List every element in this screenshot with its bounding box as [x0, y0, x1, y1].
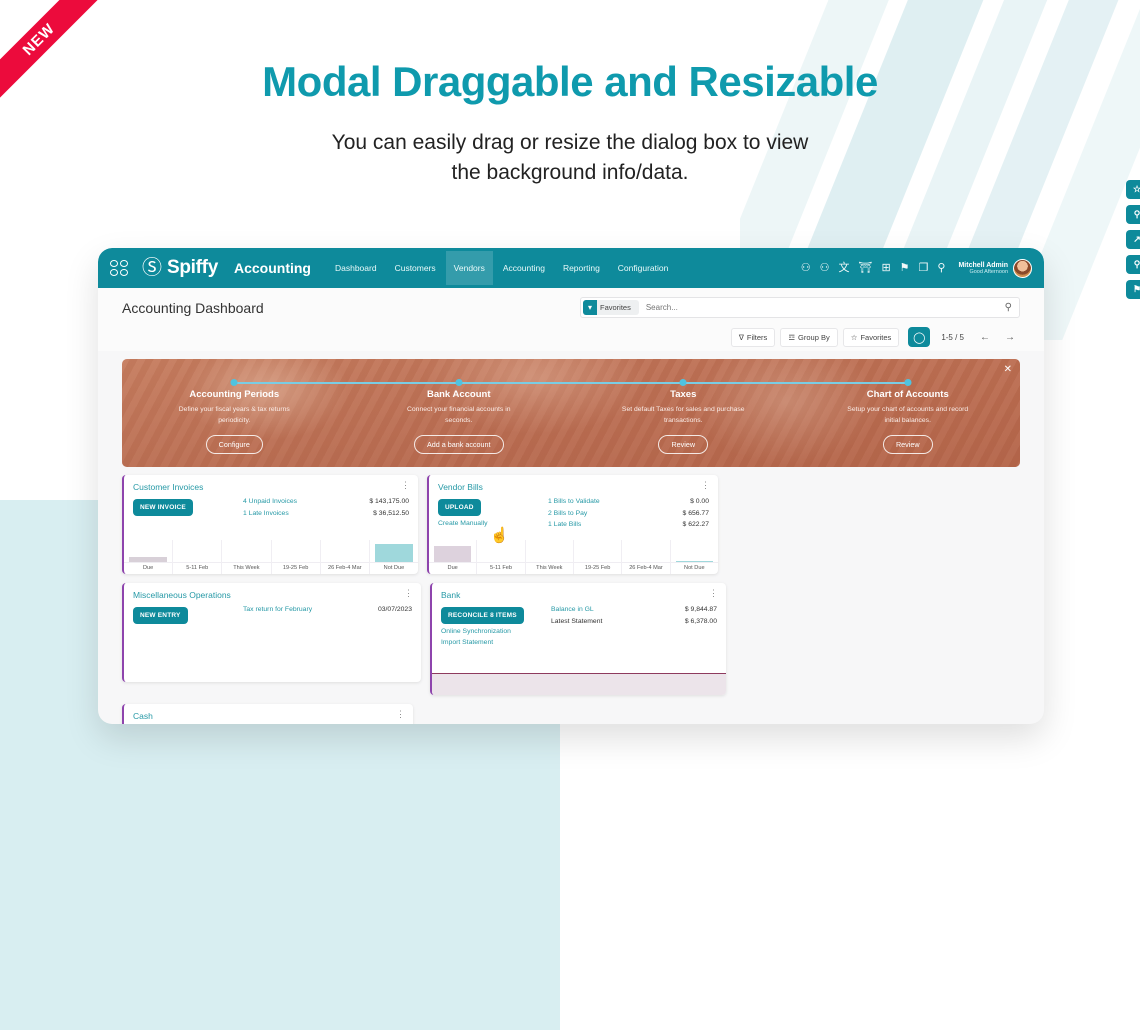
onboarding-step-accounting-periods: Accounting Periods Define your fiscal ye…: [122, 359, 347, 467]
search-icon[interactable]: ⚲: [1126, 205, 1140, 224]
bills-to-pay-link[interactable]: 2 Bills to Pay: [548, 508, 683, 520]
card-cash[interactable]: Cash ⋮ NEW TRANSACTION: [122, 704, 413, 724]
new-invoice-button[interactable]: NEW INVOICE: [133, 499, 193, 516]
card-title: Customer Invoices: [133, 482, 203, 492]
chat-icon[interactable]: ⚇: [820, 263, 830, 274]
step-connector: [459, 382, 571, 384]
upload-button[interactable]: UPLOAD: [438, 499, 481, 516]
side-action-rail: ☆ ⚲ ↗ ⚲ ⚑: [1126, 180, 1140, 299]
star-icon[interactable]: ☆: [1126, 180, 1140, 199]
tax-return-date: 03/07/2023: [378, 604, 412, 616]
card-title: Cash: [133, 711, 153, 721]
pager-count: 1-5 / 5: [941, 333, 964, 342]
nav-item-vendors[interactable]: Vendors: [446, 251, 493, 285]
bar-column: 26 Feb-4 Mar: [321, 540, 370, 574]
latest-statement-label: Latest Statement: [551, 616, 685, 628]
bar-label: 5-11 Feb: [477, 562, 524, 574]
step-connector: [796, 382, 908, 384]
step-connector: [234, 382, 346, 384]
zoom-icon[interactable]: ⚲: [1126, 255, 1140, 274]
bar-column: 19-25 Feb: [272, 540, 321, 574]
import-statement-link[interactable]: Import Statement: [441, 639, 537, 646]
nav-item-dashboard[interactable]: Dashboard: [327, 251, 385, 285]
close-icon[interactable]: ✕: [1004, 364, 1012, 375]
late-invoices-amount: $ 36,512.50: [369, 508, 409, 520]
bar-label: Not Due: [671, 562, 718, 574]
navbar-menu: Dashboard Customers Vendors Accounting R…: [327, 251, 676, 285]
onboarding-steps: Accounting Periods Define your fiscal ye…: [122, 359, 1020, 467]
filter-funnel-icon: ∇: [739, 333, 744, 342]
balance-in-gl-link[interactable]: Balance in GL: [551, 604, 685, 616]
subheadline-line-2: the background info/data.: [0, 158, 1140, 188]
filters-button-label: Filters: [747, 333, 767, 342]
online-synchronization-link[interactable]: Online Synchronization: [441, 628, 537, 635]
messages-icon[interactable]: ⚇: [801, 263, 811, 274]
card-menu-icon[interactable]: ⋮: [701, 482, 710, 488]
filters-button[interactable]: ∇ Filters: [731, 328, 775, 347]
spiffy-logo-icon: Ⓢ: [142, 258, 162, 278]
step-title: Bank Account: [427, 389, 491, 400]
grid-apps-icon[interactable]: [110, 260, 128, 276]
step-title: Chart of Accounts: [867, 389, 949, 400]
card-menu-icon[interactable]: ⋮: [401, 482, 410, 488]
user-name: Mitchell Admin: [958, 262, 1008, 269]
step-description: Define your fiscal years & tax returns p…: [168, 405, 300, 426]
dashboard-cards: Customer Invoices ⋮ NEW INVOICE 4 Unpaid…: [98, 467, 1044, 724]
step-dot: [231, 379, 238, 386]
new-ribbon-label: NEW: [0, 0, 109, 109]
bar-label: This Week: [526, 562, 573, 574]
mouse-cursor-icon: ☝: [490, 526, 509, 544]
bar-label: Due: [429, 562, 476, 574]
step-title: Accounting Periods: [189, 389, 279, 400]
bar-column: 5-11 Feb: [477, 540, 525, 574]
tax-return-link[interactable]: Tax return for February: [243, 604, 378, 616]
step-dot: [904, 379, 911, 386]
add-bank-account-button[interactable]: Add a bank account: [414, 435, 504, 454]
bills-to-pay-amount: $ 656.77: [683, 508, 709, 520]
bar-label: This Week: [222, 562, 270, 574]
bar-label: 5-11 Feb: [173, 562, 221, 574]
create-manually-link[interactable]: Create Manually: [438, 520, 534, 527]
nav-item-accounting[interactable]: Accounting: [495, 251, 553, 285]
page-subheadline: You can easily drag or resize the dialog…: [0, 128, 1140, 189]
bar-label: 26 Feb-4 Mar: [622, 562, 669, 574]
app-window: Ⓢ Spiffy Accounting Dashboard Customers …: [98, 248, 1044, 724]
bar: [375, 544, 413, 562]
nav-item-customers[interactable]: Customers: [387, 251, 444, 285]
user-menu[interactable]: Mitchell Admin Good Afternoon: [958, 259, 1032, 278]
card-miscellaneous-operations[interactable]: Miscellaneous Operations ⋮ NEW ENTRY Tax…: [122, 583, 421, 682]
next-page-icon[interactable]: →: [1000, 330, 1020, 345]
search-input[interactable]: [639, 303, 1005, 312]
onboarding-step-taxes: Taxes Set default Taxes for sales and pu…: [571, 359, 796, 467]
customer-invoices-bar-chart: Due5-11 FebThis Week19-25 Feb26 Feb-4 Ma…: [124, 540, 418, 574]
card-menu-icon[interactable]: ⋮: [709, 590, 718, 596]
bar-label: 19-25 Feb: [272, 562, 320, 574]
onboarding-banner: ✕ Accounting Periods Define your fiscal …: [122, 359, 1020, 467]
bar-column: Not Due: [671, 540, 718, 574]
pin-icon[interactable]: ⚑: [900, 263, 910, 274]
bar-column: Not Due: [370, 540, 418, 574]
card-menu-icon[interactable]: ⋮: [404, 590, 413, 596]
unpaid-invoices-amount: $ 143,175.00: [369, 496, 409, 508]
bar-label: 19-25 Feb: [574, 562, 621, 574]
step-connector: [347, 382, 459, 384]
onboarding-step-bank-account: Bank Account Connect your financial acco…: [347, 359, 572, 467]
new-ribbon: NEW: [0, 0, 112, 112]
late-invoices-link[interactable]: 1 Late Invoices: [243, 508, 369, 520]
latest-statement-amount: $ 6,378.00: [685, 616, 717, 628]
search-facet-label: Favorites: [597, 303, 634, 312]
nav-item-configuration[interactable]: Configuration: [610, 251, 677, 285]
card-title: Vendor Bills: [438, 482, 483, 492]
favorites-button-label: Favorites: [860, 333, 891, 342]
avatar[interactable]: [1013, 259, 1032, 278]
bookmark-icon[interactable]: ⚑: [1126, 280, 1140, 299]
search-bar[interactable]: ▾ Favorites ⚲: [580, 297, 1020, 318]
lightbulb-icon[interactable]: ⚲: [937, 263, 945, 274]
vendor-bills-bar-chart: Due5-11 FebThis Week19-25 Feb26 Feb-4 Ma…: [429, 540, 718, 574]
brand-name: Spiffy: [167, 257, 218, 279]
navbar-systray: ⚇ ⚇ 文 ⛩ ⊞ ⚑ ❐ ⚲ Mitchell Admin Good Afte…: [801, 259, 1032, 278]
card-customer-invoices[interactable]: Customer Invoices ⋮ NEW INVOICE 4 Unpaid…: [122, 475, 418, 574]
bills-to-validate-amount: $ 0.00: [683, 496, 709, 508]
user-greeting: Good Afternoon: [958, 269, 1008, 275]
step-description: Connect your financial accounts in secon…: [393, 405, 525, 426]
step-dot: [680, 379, 687, 386]
review-coa-button[interactable]: Review: [883, 435, 933, 454]
grid-icon[interactable]: ⊞: [881, 263, 890, 274]
translate-icon[interactable]: 文: [838, 263, 849, 274]
card-vendor-bills[interactable]: Vendor Bills ⋮ UPLOAD Create Manually 1 …: [427, 475, 718, 574]
filter-icon: ▾: [583, 300, 597, 315]
onboarding-step-chart-of-accounts: Chart of Accounts Setup your chart of ac…: [796, 359, 1021, 467]
step-connector: [571, 382, 683, 384]
group-by-button[interactable]: ☲ Group By: [780, 328, 837, 347]
search-icon[interactable]: ⚲: [1005, 302, 1012, 313]
bar-column: Due: [124, 540, 173, 574]
activity-icon[interactable]: ⛩: [858, 263, 872, 274]
control-bar: Accounting Dashboard ▾ Favorites ⚲ ∇ Fil…: [98, 288, 1044, 351]
late-bills-amount: $ 622.27: [683, 519, 709, 531]
subheadline-line-1: You can easily drag or resize the dialog…: [0, 128, 1140, 158]
reconcile-items-button[interactable]: RECONCILE 8 ITEMS: [441, 607, 524, 624]
kanban-view-icon[interactable]: ◯: [908, 327, 930, 347]
prev-page-icon[interactable]: ←: [975, 330, 995, 345]
bar-column: 19-25 Feb: [574, 540, 622, 574]
bar-label: Due: [124, 562, 172, 574]
search-facet-favorites[interactable]: ▾ Favorites: [583, 300, 639, 315]
step-description: Set default Taxes for sales and purchase…: [617, 405, 749, 426]
step-dot: [455, 379, 462, 386]
step-description: Setup your chart of accounts and record …: [842, 405, 974, 426]
bills-to-validate-link[interactable]: 1 Bills to Validate: [548, 496, 683, 508]
nav-item-reporting[interactable]: Reporting: [555, 251, 608, 285]
new-entry-button[interactable]: NEW ENTRY: [133, 607, 188, 624]
card-title: Bank: [441, 590, 460, 600]
group-by-button-label: Group By: [798, 333, 830, 342]
unpaid-invoices-link[interactable]: 4 Unpaid Invoices: [243, 496, 369, 508]
note-icon[interactable]: ❐: [919, 263, 929, 274]
step-connector: [683, 382, 795, 384]
configure-button[interactable]: Configure: [206, 435, 263, 454]
late-bills-link[interactable]: 1 Late Bills: [548, 519, 683, 531]
bar-label: 26 Feb-4 Mar: [321, 562, 369, 574]
favorites-button[interactable]: ☆ Favorites: [843, 328, 900, 347]
link-icon[interactable]: ↗: [1126, 230, 1140, 249]
card-bank[interactable]: Bank ⋮ RECONCILE 8 ITEMS Online Synchron…: [430, 583, 726, 695]
review-taxes-button[interactable]: Review: [658, 435, 708, 454]
page-title: Accounting Dashboard: [122, 300, 264, 316]
group-by-icon: ☲: [788, 333, 795, 342]
app-navbar: Ⓢ Spiffy Accounting Dashboard Customers …: [98, 248, 1044, 288]
bar-column: This Week: [222, 540, 271, 574]
star-icon: ☆: [851, 333, 858, 342]
card-title: Miscellaneous Operations: [133, 590, 231, 600]
bar: [434, 546, 471, 562]
bar-label: Not Due: [370, 562, 418, 574]
bar-column: Due: [429, 540, 477, 574]
brand-logo[interactable]: Ⓢ Spiffy: [142, 257, 218, 279]
background-blob-lower: [0, 670, 560, 1030]
card-menu-icon[interactable]: ⋮: [396, 711, 405, 717]
hero-section: Modal Draggable and Resizable You can ea…: [0, 0, 1140, 189]
bank-progress-bar: [432, 673, 726, 695]
current-app-name: Accounting: [234, 260, 311, 276]
bar-column: 5-11 Feb: [173, 540, 222, 574]
bar-column: This Week: [526, 540, 574, 574]
page-headline: Modal Draggable and Resizable: [0, 58, 1140, 106]
step-title: Taxes: [670, 389, 696, 400]
bar-column: 26 Feb-4 Mar: [622, 540, 670, 574]
balance-in-gl-amount: $ 9,844.87: [685, 604, 717, 616]
